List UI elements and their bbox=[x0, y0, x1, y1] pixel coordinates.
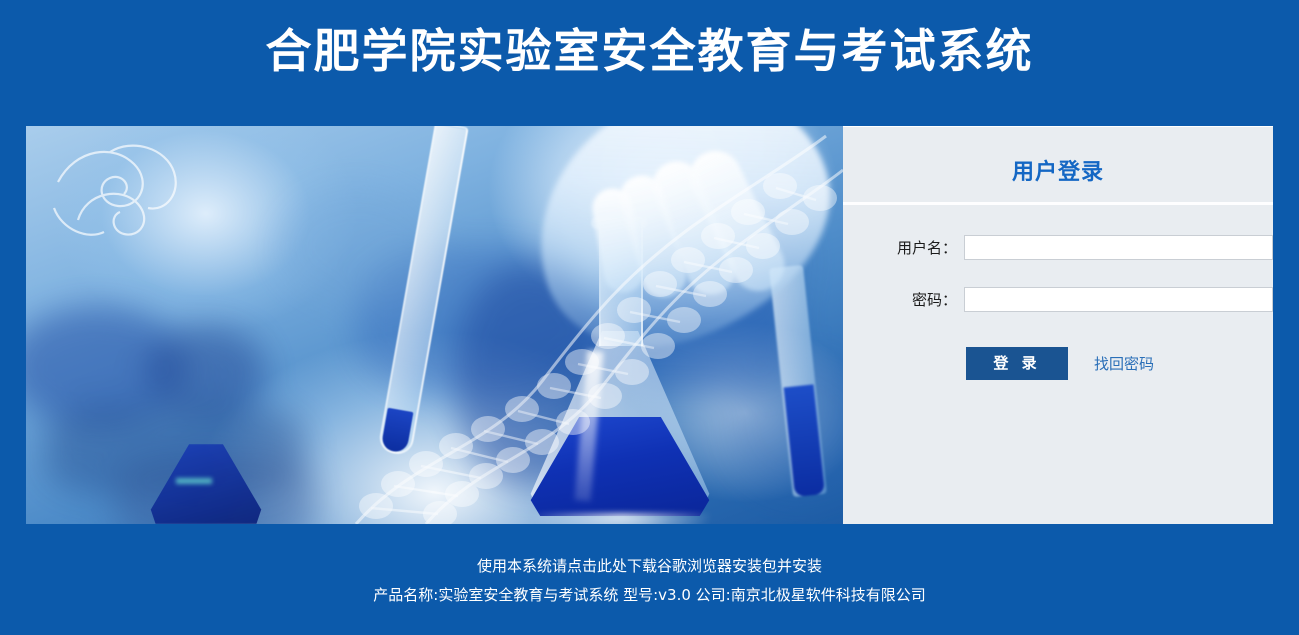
product-info: 产品名称:实验室安全教育与考试系统 型号:v3.0 公司:南京北极星软件科技有限… bbox=[0, 581, 1299, 610]
username-row: 用户名： bbox=[843, 235, 1273, 260]
lab-photo bbox=[26, 126, 843, 524]
panel-divider bbox=[843, 202, 1273, 205]
password-input[interactable] bbox=[964, 287, 1273, 312]
login-heading: 用户登录 bbox=[843, 127, 1273, 187]
username-label: 用户名： bbox=[861, 237, 964, 258]
download-browser-link[interactable]: 使用本系统请点击此处下载谷歌浏览器安装包并安装 bbox=[0, 552, 1299, 581]
login-panel: 用户登录 用户名： 密码： 登 录 找回密码 bbox=[843, 126, 1273, 524]
forgot-password-link[interactable]: 找回密码 bbox=[1094, 353, 1154, 374]
login-page: 合肥学院实验室安全教育与考试系统 bbox=[0, 0, 1299, 635]
footer: 使用本系统请点击此处下载谷歌浏览器安装包并安装 产品名称:实验室安全教育与考试系… bbox=[0, 552, 1299, 610]
login-actions: 登 录 找回密码 bbox=[843, 347, 1273, 380]
page-title: 合肥学院实验室安全教育与考试系统 bbox=[0, 20, 1299, 82]
password-label: 密码： bbox=[861, 289, 964, 310]
gloved-hand-icon bbox=[26, 126, 843, 524]
login-form: 用户名： 密码： 登 录 找回密码 bbox=[843, 235, 1273, 380]
login-button[interactable]: 登 录 bbox=[966, 347, 1068, 380]
username-input[interactable] bbox=[964, 235, 1273, 260]
main-content: 用户登录 用户名： 密码： 登 录 找回密码 bbox=[26, 126, 1273, 524]
password-row: 密码： bbox=[843, 287, 1273, 312]
